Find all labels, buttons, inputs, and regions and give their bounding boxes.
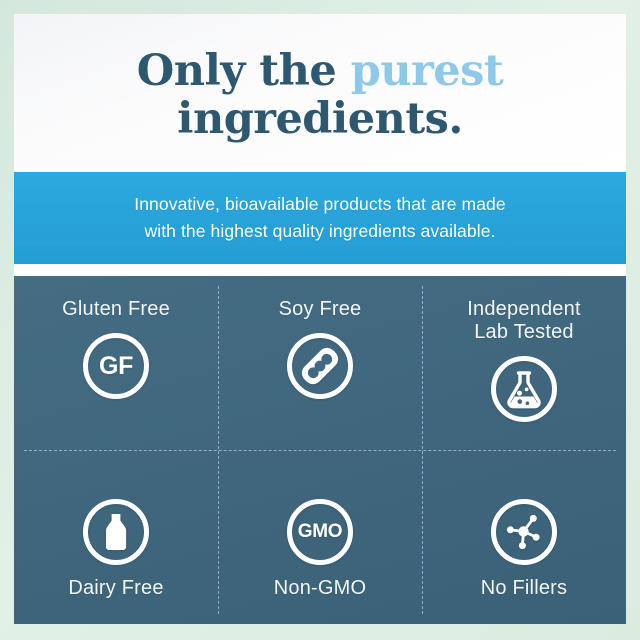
headline-text-primary: Only the xyxy=(137,46,351,96)
promo-graphic: Only the purest ingredients. Innovative,… xyxy=(0,0,640,640)
feature-cell-dairy-free: Dairy Free xyxy=(14,450,218,624)
feature-label: Gluten Free xyxy=(62,298,170,321)
feature-cell-no-fillers: No Fillers xyxy=(422,450,626,624)
molecule-icon xyxy=(491,499,557,565)
subtitle-band: Innovative, bioavailable products that a… xyxy=(14,172,626,264)
feature-cell-lab-tested: Independent Lab Tested xyxy=(422,276,626,450)
non-gmo-badge-icon: GMO xyxy=(287,499,353,565)
feature-cell-soy-free: Soy Free xyxy=(218,276,422,450)
feature-label: Soy Free xyxy=(279,298,362,321)
feature-cell-gluten-free: Gluten Free GF xyxy=(14,276,218,450)
soybean-pod-icon xyxy=(287,333,353,399)
feature-label-line-2: Lab Tested xyxy=(467,321,580,344)
headline-line-1: Only the purest xyxy=(137,47,503,95)
gf-badge-text: GF xyxy=(83,333,149,399)
gmo-badge-text: GMO xyxy=(287,499,353,565)
feature-grid: Gluten Free GF Soy Free xyxy=(14,276,626,624)
feature-label: Dairy Free xyxy=(68,577,163,600)
subtitle-line-1: Innovative, bioavailable products that a… xyxy=(134,193,505,217)
lab-flask-icon xyxy=(491,356,557,422)
headline-text-accent: purest xyxy=(351,46,503,96)
headline-section: Only the purest ingredients. xyxy=(14,14,626,172)
headline-line-2: ingredients. xyxy=(177,95,463,143)
feature-cell-non-gmo: GMO Non-GMO xyxy=(218,450,422,624)
feature-label: Non-GMO xyxy=(274,577,367,600)
gluten-free-gf-badge-icon: GF xyxy=(83,333,149,399)
feature-label: No Fillers xyxy=(481,577,567,600)
feature-label-line-1: Independent xyxy=(467,298,580,321)
feature-label: Independent Lab Tested xyxy=(467,298,580,344)
card: Only the purest ingredients. Innovative,… xyxy=(14,14,626,624)
subtitle-line-2: with the highest quality ingredients ava… xyxy=(144,220,495,244)
milk-bottle-icon xyxy=(83,499,149,565)
subtitle-band-wrapper: Innovative, bioavailable products that a… xyxy=(14,172,626,276)
